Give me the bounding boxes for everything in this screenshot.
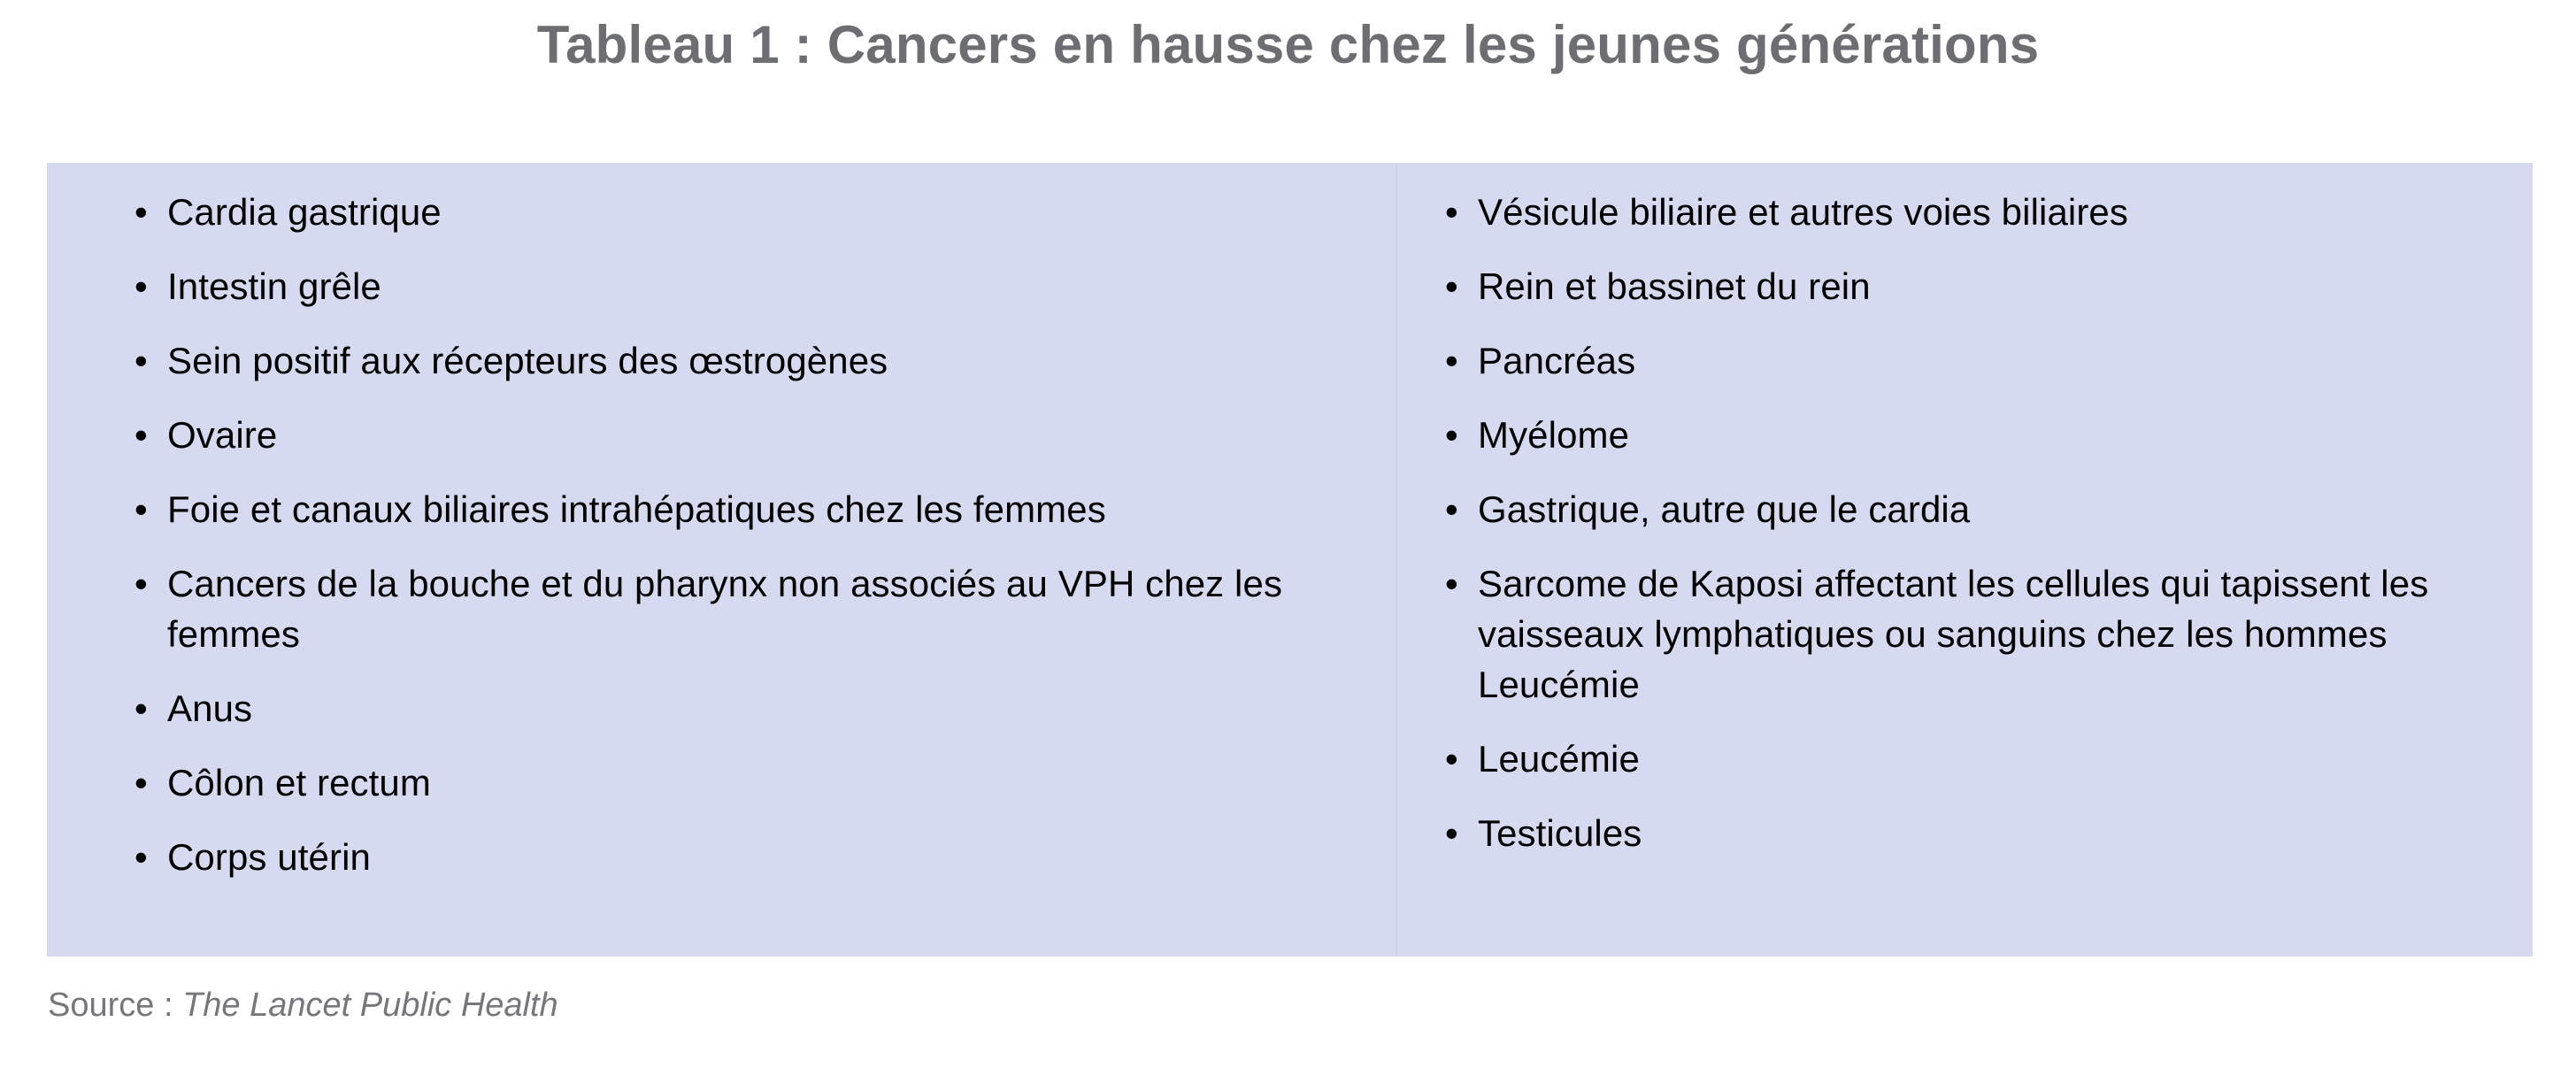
list-item: Côlon et rectum (135, 757, 1369, 808)
list-item: Rein et bassinet du rein (1445, 261, 2497, 311)
cancer-list-left: Cardia gastrique Intestin grêle Sein pos… (135, 187, 1369, 882)
list-item: Cardia gastrique (135, 187, 1369, 237)
cancer-list-right: Vésicule biliaire et autres voies biliai… (1445, 187, 2497, 858)
list-item: Ovaire (135, 410, 1369, 460)
source-note: Source : The Lancet Public Health (48, 985, 558, 1026)
list-item: Leucémie (1445, 734, 2497, 784)
column-divider (1396, 163, 1397, 957)
list-item: Vésicule biliaire et autres voies biliai… (1445, 187, 2497, 237)
list-item: Cancers de la bouche et du pharynx non a… (135, 558, 1369, 659)
table-panel: Cardia gastrique Intestin grêle Sein pos… (47, 163, 2533, 957)
table-column-left: Cardia gastrique Intestin grêle Sein pos… (47, 163, 1396, 957)
list-item: Testicules (1445, 808, 2497, 858)
list-item: Gastrique, autre que le cardia (1445, 484, 2497, 534)
list-item: Corps utérin (135, 832, 1369, 882)
list-item: Foie et canaux biliaires intrahépatiques… (135, 484, 1369, 534)
list-item: Intestin grêle (135, 261, 1369, 311)
figure-container: Tableau 1 : Cancers en hausse chez les j… (0, 0, 2576, 1068)
page-title: Tableau 1 : Cancers en hausse chez les j… (0, 16, 2576, 74)
list-item: Anus (135, 683, 1369, 734)
table-column-right: Vésicule biliaire et autres voies biliai… (1396, 163, 2533, 957)
list-item: Pancréas (1445, 335, 2497, 386)
source-reference: The Lancet Public Health (182, 987, 558, 1024)
source-label: Source : (48, 987, 182, 1024)
list-item: Sein positif aux récepteurs des œstrogèn… (135, 335, 1369, 386)
list-item: Myélome (1445, 410, 2497, 460)
list-item: Sarcome de Kaposi affectant les cellules… (1445, 558, 2497, 710)
